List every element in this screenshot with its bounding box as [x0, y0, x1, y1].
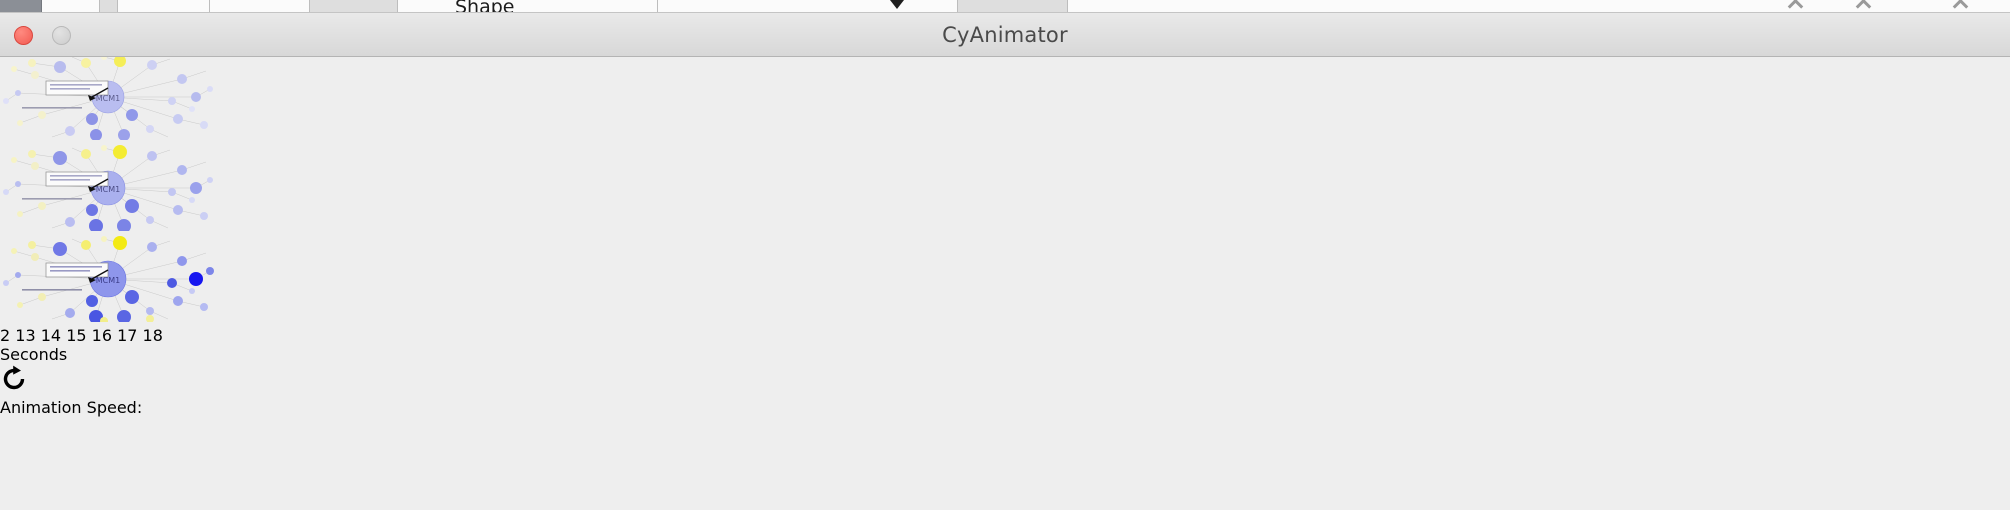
ruler-label: 17	[117, 326, 137, 345]
ruler-label: 13	[15, 326, 35, 345]
network-thumbnail-medium: MCM1	[0, 144, 2010, 235]
frame-track[interactable]: MCM1	[0, 53, 2010, 326]
animation-speed-label: Animation Speed:	[0, 398, 2010, 417]
background-windows-strip: Shape	[0, 0, 2010, 13]
ruler-label: 15	[66, 326, 86, 345]
cyanimator-window: Shape CyAnimator Clear All Frames	[0, 0, 2010, 510]
ruler-label: 16	[92, 326, 112, 345]
svg-text:MCM1: MCM1	[96, 276, 120, 285]
timeline-ruler[interactable]: 2 13 14 15 16 17 18 Seconds	[0, 326, 2010, 364]
loop-icon	[0, 379, 30, 398]
ruler-label: 2	[0, 326, 10, 345]
ruler-label: 18	[143, 326, 163, 345]
frame-thumbnail[interactable]: MCM1	[0, 144, 2010, 235]
loop-toggle-button[interactable]	[0, 364, 2010, 398]
network-thumbnail-high: MCM1	[0, 235, 2010, 326]
svg-text:MCM1: MCM1	[96, 185, 120, 194]
axis-title-seconds: Seconds	[0, 345, 2010, 364]
window-title: CyAnimator	[0, 13, 2010, 57]
title-bar: CyAnimator	[0, 13, 2010, 57]
ruler-label: 14	[41, 326, 61, 345]
frame-thumbnail[interactable]: MCM1	[0, 53, 2010, 144]
playback-control-bar: Animation Speed:	[0, 364, 2010, 417]
frame-thumbnail[interactable]: MCM1	[0, 235, 2010, 326]
network-thumbnail-low: MCM1	[0, 53, 2010, 144]
svg-text:MCM1: MCM1	[96, 94, 120, 103]
